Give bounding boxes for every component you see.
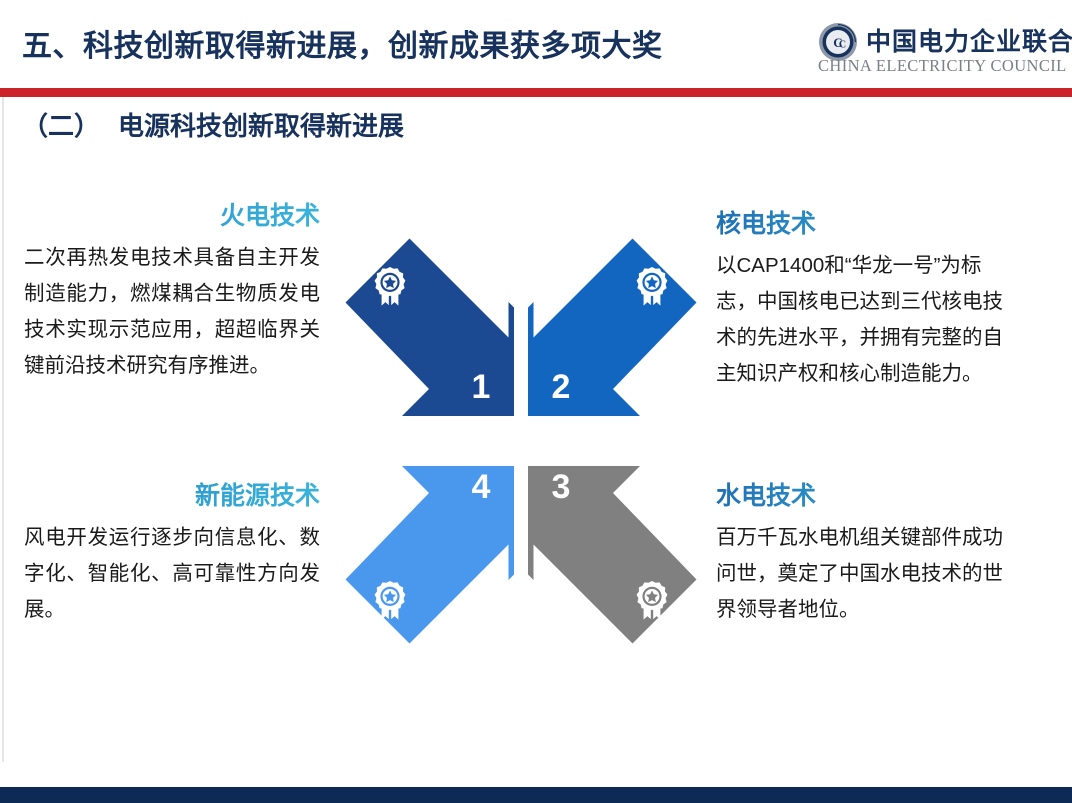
panel-thermal-technology: 火电技术 二次再热发电技术具备自主开发制造能力，燃煤耦合生物质发电技术实现示范应…	[24, 196, 320, 384]
section-subtitle: （二）电源科技创新取得新进展	[22, 106, 404, 143]
slide-header: 五、科技创新取得新进展，创新成果获多项大奖 C C 中国电力企业联合会 CHIN…	[0, 0, 1072, 86]
panel-hydro-heading: 水电技术	[716, 476, 1012, 512]
x-diagram-svg: 1 2 4	[336, 226, 706, 656]
arrow-1-number: 1	[472, 368, 491, 406]
arrow-4-new-energy[interactable]: 4	[346, 466, 515, 644]
slide-title: 五、科技创新取得新进展，创新成果获多项大奖	[22, 21, 663, 65]
arrow-3-number: 3	[552, 468, 571, 506]
panel-new-energy-body: 风电开发运行逐步向信息化、数字化、智能化、高可靠性方向发展。	[24, 520, 320, 628]
panel-hydro-technology: 水电技术 百万千瓦水电机组关键部件成功问世，奠定了中国水电技术的世界领导者地位。	[716, 476, 1012, 628]
panel-thermal-body: 二次再热发电技术具备自主开发制造能力，燃煤耦合生物质发电技术实现示范应用，超超临…	[24, 240, 320, 384]
arrow-2-nuclear[interactable]: 2	[528, 239, 697, 417]
organization-logo: C C 中国电力企业联合会 CHINA ELECTRICITY COUNCIL	[816, 18, 1064, 80]
slide-bottom-bar	[0, 787, 1072, 803]
section-subtitle-text: 电源科技创新取得新进展	[118, 111, 404, 141]
panel-new-energy-heading: 新能源技术	[24, 476, 320, 512]
arrow-4-number: 4	[472, 468, 491, 506]
arrow-1-thermal[interactable]: 1	[346, 239, 515, 417]
svg-text:C: C	[839, 40, 846, 51]
x-shaped-arrow-diagram: 1 2 4	[336, 226, 706, 656]
header-red-divider	[0, 88, 1072, 97]
panel-new-energy-technology: 新能源技术 风电开发运行逐步向信息化、数字化、智能化、高可靠性方向发展。	[24, 476, 320, 628]
arrow-2-number: 2	[552, 368, 571, 406]
arrow-3-hydro[interactable]: 3	[528, 466, 697, 644]
presentation-slide: 五、科技创新取得新进展，创新成果获多项大奖 C C 中国电力企业联合会 CHIN…	[0, 0, 1072, 803]
left-accent-border	[2, 97, 4, 762]
panel-nuclear-body: 以CAP1400和“华龙一号”为标志，中国核电已达到三代核电技术的先进水平，并拥…	[716, 248, 1012, 392]
logo-english-name: CHINA ELECTRICITY COUNCIL	[818, 56, 1067, 76]
section-subtitle-number: （二）	[22, 111, 100, 141]
logo-chinese-name: 中国电力企业联合会	[866, 22, 1072, 58]
panel-nuclear-heading: 核电技术	[716, 204, 1012, 240]
panel-hydro-body: 百万千瓦水电机组关键部件成功问世，奠定了中国水电技术的世界领导者地位。	[716, 520, 1012, 628]
panel-thermal-heading: 火电技术	[24, 196, 320, 232]
panel-nuclear-technology: 核电技术 以CAP1400和“华龙一号”为标志，中国核电已达到三代核电技术的先进…	[716, 204, 1012, 392]
